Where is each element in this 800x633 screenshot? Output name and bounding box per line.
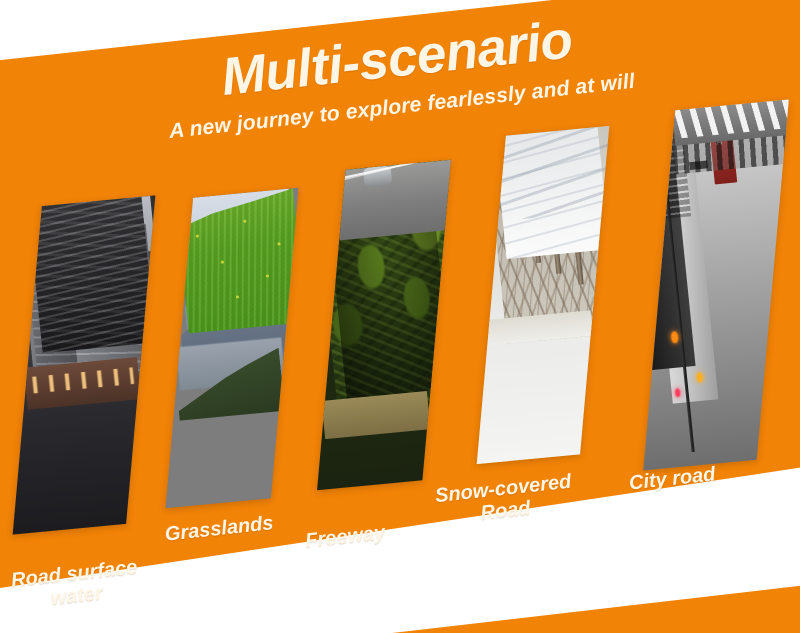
scenario-image-snow-covered-road — [477, 126, 610, 464]
scenario-image-city-road: M A — [643, 99, 789, 470]
scenario-card-road-surface-water[interactable] — [28, 200, 140, 530]
scenario-image-road-surface-water — [13, 195, 156, 534]
scenario-image-grasslands — [165, 188, 298, 509]
scenario-card-snow-covered-road[interactable] — [492, 130, 594, 460]
banner-stage: Multi-scenario A new journey to explore … — [0, 0, 800, 633]
scenario-card-freeway[interactable] — [332, 164, 436, 486]
orange-banner-lower-stripe — [380, 560, 800, 633]
scenario-image-freeway — [317, 160, 451, 490]
scenario-card-grasslands[interactable] — [180, 192, 284, 504]
traffic-light-yellow-icon — [696, 372, 703, 382]
scenario-card-city-road[interactable]: M A — [660, 104, 772, 466]
